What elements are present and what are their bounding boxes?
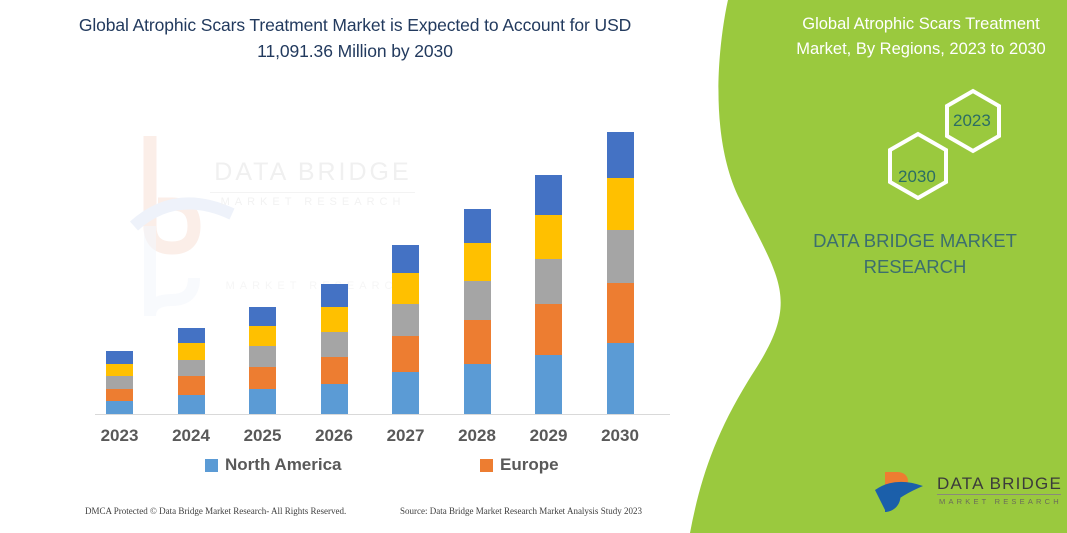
- bar-segment: [321, 332, 348, 357]
- logo-name: DATA BRIDGE: [937, 474, 1062, 494]
- bar-segment: [178, 376, 205, 394]
- x-axis-labels: 20232024202520262027202820292030: [95, 426, 670, 456]
- x-tick-2028: 2028: [441, 426, 513, 446]
- bar-segment: [607, 343, 634, 414]
- bar-2023[interactable]: [106, 351, 133, 414]
- bar-segment: [178, 328, 205, 344]
- bar-2029[interactable]: [535, 175, 562, 414]
- bar-segment: [535, 259, 562, 305]
- x-tick-2024: 2024: [155, 426, 227, 446]
- bar-segment: [464, 243, 491, 281]
- bar-2024[interactable]: [178, 328, 205, 414]
- bar-segment: [392, 372, 419, 414]
- brand-name: DATA BRIDGE MARKET RESEARCH: [765, 228, 1065, 280]
- bar-segment: [392, 273, 419, 304]
- bar-segment: [535, 215, 562, 259]
- legend-item-europe[interactable]: Europe: [480, 455, 559, 475]
- legend-item-north-america[interactable]: North America: [205, 455, 342, 475]
- bar-segment: [106, 351, 133, 364]
- bar-segment: [249, 326, 276, 346]
- bar-segment: [249, 346, 276, 366]
- legend-swatch: [205, 459, 218, 472]
- green-panel-content: Global Atrophic Scars Treatment Market, …: [755, 0, 1067, 533]
- footer-source: Source: Data Bridge Market Research Mark…: [400, 506, 642, 516]
- bar-segment: [321, 307, 348, 331]
- chart-legend: North AmericaEurope: [95, 455, 670, 481]
- footer-copyright: DMCA Protected © Data Bridge Market Rese…: [85, 506, 346, 516]
- hex-label-right: 2023: [953, 111, 991, 131]
- bar-2026[interactable]: [321, 284, 348, 414]
- footer: DMCA Protected © Data Bridge Market Rese…: [0, 506, 700, 530]
- bar-segment: [464, 281, 491, 320]
- bar-segment: [106, 401, 133, 414]
- bar-segment: [392, 336, 419, 372]
- bar-segment: [321, 357, 348, 384]
- bar-segment: [464, 209, 491, 243]
- plot-area: [95, 120, 670, 415]
- bar-segment: [464, 364, 491, 414]
- data-bridge-logo-icon: [873, 470, 931, 516]
- bar-segment: [106, 389, 133, 402]
- bar-segment: [249, 367, 276, 389]
- x-tick-2025: 2025: [227, 426, 299, 446]
- bar-segment: [607, 178, 634, 229]
- logo-divider: [937, 494, 1061, 495]
- bar-segment: [607, 230, 634, 283]
- bar-segment: [535, 355, 562, 414]
- bar-segment: [106, 376, 133, 389]
- bar-segment: [535, 304, 562, 354]
- legend-label: Europe: [500, 455, 559, 475]
- bar-segment: [106, 364, 133, 377]
- infographic-canvas: Global Atrophic Scars Treatment Market i…: [0, 0, 1067, 533]
- x-tick-2027: 2027: [370, 426, 442, 446]
- bar-segment: [321, 284, 348, 307]
- bar-segment: [321, 384, 348, 414]
- logo-subtitle: MARKET RESEARCH: [939, 497, 1062, 506]
- bar-segment: [249, 307, 276, 325]
- bar-2025[interactable]: [249, 307, 276, 414]
- bar-2028[interactable]: [464, 209, 491, 414]
- x-tick-2023: 2023: [84, 426, 156, 446]
- bar-segment: [464, 320, 491, 364]
- bar-segment: [178, 395, 205, 414]
- bar-segment: [249, 389, 276, 414]
- x-axis-line: [95, 414, 670, 415]
- logo: DATA BRIDGE MARKET RESEARCH: [873, 470, 1063, 518]
- x-tick-2030: 2030: [584, 426, 656, 446]
- hexagon-badges: 2030 2023: [815, 88, 1045, 200]
- bar-segment: [392, 304, 419, 336]
- page-title: Global Atrophic Scars Treatment Market i…: [60, 12, 650, 64]
- legend-swatch: [480, 459, 493, 472]
- bar-segment: [178, 360, 205, 376]
- hex-label-left: 2030: [898, 167, 936, 187]
- panel-title: Global Atrophic Scars Treatment Market, …: [773, 12, 1067, 62]
- x-tick-2029: 2029: [513, 426, 585, 446]
- bar-segment: [607, 283, 634, 343]
- x-tick-2026: 2026: [298, 426, 370, 446]
- chart-panel: Global Atrophic Scars Treatment Market i…: [0, 0, 700, 533]
- bar-segment: [535, 175, 562, 215]
- bar-segment: [178, 343, 205, 359]
- bar-2030[interactable]: [607, 132, 634, 414]
- legend-label: North America: [225, 455, 342, 475]
- bar-segment: [607, 132, 634, 179]
- bar-2027[interactable]: [392, 245, 419, 414]
- bar-segment: [392, 245, 419, 273]
